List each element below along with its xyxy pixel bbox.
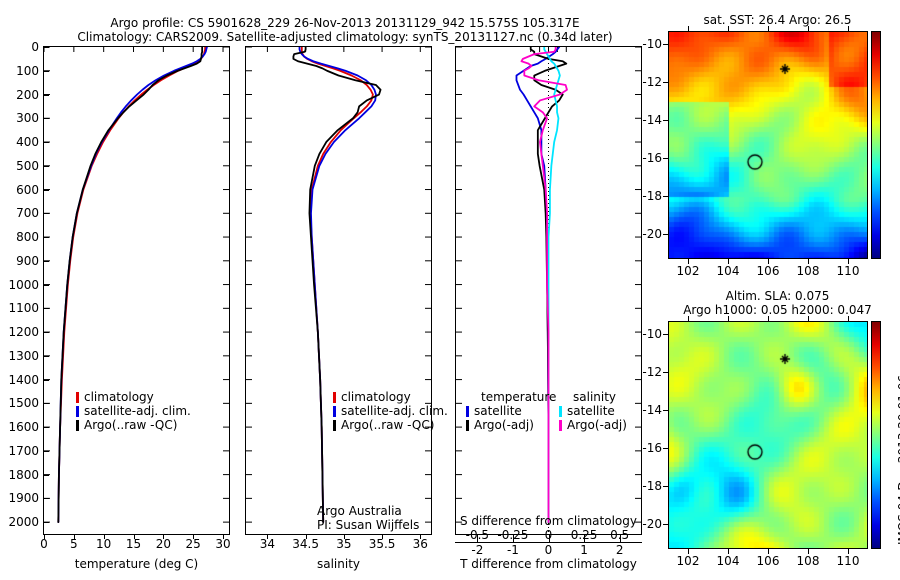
sst-map-longitude-tick-top (808, 26, 809, 31)
depth-tick-label: 1600 (0, 421, 39, 433)
header-line-2: Climatology: CARS2009. Satellite-adjuste… (30, 31, 660, 44)
sst-colorbar (871, 31, 881, 259)
salinity-legend-row: Argo(..raw -QC) (333, 418, 434, 432)
sla-map-longitude-tick-top (768, 316, 769, 321)
legend-color-swatch (76, 406, 79, 417)
depth-tick (43, 95, 49, 96)
depth-tick-label: 1300 (0, 350, 39, 362)
depth-tick-label: 700 (0, 207, 39, 219)
legend-color-swatch (76, 420, 79, 431)
sla-map-title-line2: Argo h1000: 0.05 h2000: 0.047 (655, 304, 900, 317)
sst-map-longitude-label: 110 (823, 265, 873, 277)
depth-tick-label: 1100 (0, 302, 39, 314)
depth-tick (43, 475, 49, 476)
legend-label: climatology (84, 390, 154, 404)
depth-tick (43, 427, 49, 428)
legend-color-swatch (333, 392, 336, 403)
principal-investigator-label: PI: Susan Wijffels (317, 519, 419, 532)
difference-legend-salinity-title: salinity (573, 390, 616, 404)
sst-map-longitude-tick-top (688, 26, 689, 31)
depth-tick-label: 1000 (0, 279, 39, 291)
legend-color-swatch (466, 420, 469, 431)
sst-map-latitude-label: -18 (622, 190, 662, 202)
sla-map[interactable] (668, 321, 868, 549)
depth-tick (43, 332, 49, 333)
header-line-1: Argo profile: CS 5901628_229 26-Nov-2013… (30, 17, 660, 30)
sla-map-latitude-label: -12 (622, 366, 662, 378)
sla-map-longitude-tick-top (688, 316, 689, 321)
temperature-difference-tick (549, 537, 550, 542)
sla-map-latitude-label: -14 (622, 404, 662, 416)
depth-tick-label: 200 (0, 89, 39, 101)
depth-tick (43, 261, 49, 262)
sla-colorbar (871, 321, 881, 549)
legend-label: Argo(-adj) (474, 418, 534, 432)
depth-tick-label: 1700 (0, 445, 39, 457)
sst-map-latitude-label: -12 (622, 76, 662, 88)
salinity-legend-row: satellite-adj. clim. (333, 404, 448, 418)
depth-tick-label: 800 (0, 231, 39, 243)
depth-tick-label: 1500 (0, 397, 39, 409)
imos-timestamp: IMOS 04-Dec-2013 20:01:06 (896, 375, 900, 545)
temperature-legend-row: Argo(..raw -QC) (76, 418, 177, 432)
depth-tick (43, 451, 49, 452)
depth-tick-label: 1900 (0, 492, 39, 504)
legend-label: Argo(..raw -QC) (341, 418, 434, 432)
depth-tick (43, 237, 49, 238)
sla-map-latitude-label: -18 (622, 480, 662, 492)
difference-legend-temperature-row: Argo(-adj) (466, 418, 534, 432)
sla-map-latitude-tick (663, 486, 668, 487)
legend-label: climatology (341, 390, 411, 404)
depth-tick-label: 100 (0, 65, 39, 77)
sla-map-longitude-tick-top (728, 316, 729, 321)
sst-map-latitude-tick (663, 234, 668, 235)
sla-map-latitude-tick (663, 410, 668, 411)
depth-tick (43, 166, 49, 167)
sst-map-latitude-tick (663, 120, 668, 121)
depth-tick (43, 356, 49, 357)
salinity-legend-row: climatology (333, 390, 411, 404)
difference-profile-plot (455, 46, 642, 535)
salinity-difference-axis-label: S difference from climatology (448, 515, 649, 528)
sla-map-longitude-tick-top (808, 316, 809, 321)
depth-tick-label: 2000 (0, 516, 39, 528)
sst-map-title: sat. SST: 26.4 Argo: 26.5 (660, 14, 895, 27)
depth-tick-label: 600 (0, 184, 39, 196)
difference-legend-salinity-row: satellite (559, 404, 615, 418)
legend-label: satellite-adj. clim. (84, 404, 191, 418)
legend-label: satellite-adj. clim. (341, 404, 448, 418)
series-satellite-adj-clim- (300, 47, 376, 522)
depth-tick (43, 522, 49, 523)
depth-tick (43, 380, 49, 381)
series-argo-raw-qc- (293, 47, 380, 522)
sla-map-latitude-tick (663, 524, 668, 525)
legend-label: satellite (567, 404, 615, 418)
depth-tick (43, 142, 49, 143)
sst-map[interactable] (668, 31, 868, 259)
sla-map-latitude-tick (663, 448, 668, 449)
depth-tick-label: 300 (0, 112, 39, 124)
sla-map-latitude-label: -10 (622, 328, 662, 340)
temperature-difference-tick (477, 537, 478, 542)
sst-map-longitude-tick-top (848, 26, 849, 31)
legend-color-swatch (466, 406, 469, 417)
depth-tick-label: 500 (0, 160, 39, 172)
sla-map-latitude-label: -16 (622, 442, 662, 454)
depth-tick (43, 498, 49, 499)
sst-map-latitude-label: -14 (622, 114, 662, 126)
legend-label: Argo(-adj) (567, 418, 627, 432)
legend-label: satellite (474, 404, 522, 418)
depth-tick-label: 1200 (0, 326, 39, 338)
sla-map-longitude-tick-top (848, 316, 849, 321)
depth-tick (43, 285, 49, 286)
sst-map-longitude-tick-top (728, 26, 729, 31)
series-climatology (58, 47, 205, 522)
difference-legend-temperature-row: satellite (466, 404, 522, 418)
depth-tick (43, 213, 49, 214)
sla-map-latitude-tick (663, 372, 668, 373)
depth-tick-label: 900 (0, 255, 39, 267)
depth-tick-label: 400 (0, 136, 39, 148)
temperature-legend-row: climatology (76, 390, 154, 404)
sla-map-title-line1: Altim. SLA: 0.075 (660, 290, 895, 303)
series-satellite-adj-clim- (58, 47, 207, 522)
salinity-axis-label: salinity (245, 558, 432, 571)
temperature-legend-row: satellite-adj. clim. (76, 404, 191, 418)
temperature-difference-tick-label: 2 (590, 544, 650, 556)
depth-tick (43, 71, 49, 72)
temperature-difference-axis-label: T difference from climatology (448, 558, 649, 571)
legend-color-swatch (559, 406, 562, 417)
sst-map-latitude-tick (663, 44, 668, 45)
temperature-axis-label: temperature (deg C) (43, 558, 230, 571)
sst-map-latitude-label: -20 (622, 228, 662, 240)
depth-tick-label: 0 (0, 41, 39, 53)
series-temperature-satellite (516, 47, 559, 522)
sst-map-latitude-tick (663, 196, 668, 197)
sst-map-latitude-label: -16 (622, 152, 662, 164)
temperature-profile-plot (43, 46, 230, 535)
difference-legend-salinity-row: Argo(-adj) (559, 418, 627, 432)
temperature-difference-tick (584, 537, 585, 542)
depth-tick-label: 1400 (0, 374, 39, 386)
legend-color-swatch (333, 406, 336, 417)
series-climatology (302, 47, 373, 522)
sst-map-latitude-tick (663, 82, 668, 83)
series-argo-raw-qc- (58, 47, 202, 522)
depth-tick (43, 118, 49, 119)
depth-tick (43, 190, 49, 191)
depth-tick (43, 47, 49, 48)
sst-map-latitude-tick (663, 158, 668, 159)
legend-label: Argo(..raw -QC) (84, 418, 177, 432)
depth-tick-label: 1800 (0, 469, 39, 481)
sst-map-longitude-tick-top (768, 26, 769, 31)
temperature-difference-tick (620, 537, 621, 542)
argo-profile-figure: Argo profile: CS 5901628_229 26-Nov-2013… (0, 0, 900, 580)
legend-color-swatch (333, 420, 336, 431)
depth-tick (43, 308, 49, 309)
depth-tick (43, 403, 49, 404)
difference-legend-temperature-title: temperature (481, 390, 556, 404)
legend-color-swatch (559, 420, 562, 431)
sla-map-latitude-tick (663, 334, 668, 335)
sst-map-latitude-label: -10 (622, 38, 662, 50)
salinity-profile-plot (245, 46, 432, 535)
sla-map-longitude-label: 110 (823, 555, 873, 567)
legend-color-swatch (76, 392, 79, 403)
sla-map-latitude-label: -20 (622, 518, 662, 530)
argo-australia-label: Argo Australia (317, 505, 402, 518)
temperature-difference-tick (513, 537, 514, 542)
salinity-tick-label: 36 (390, 538, 450, 550)
